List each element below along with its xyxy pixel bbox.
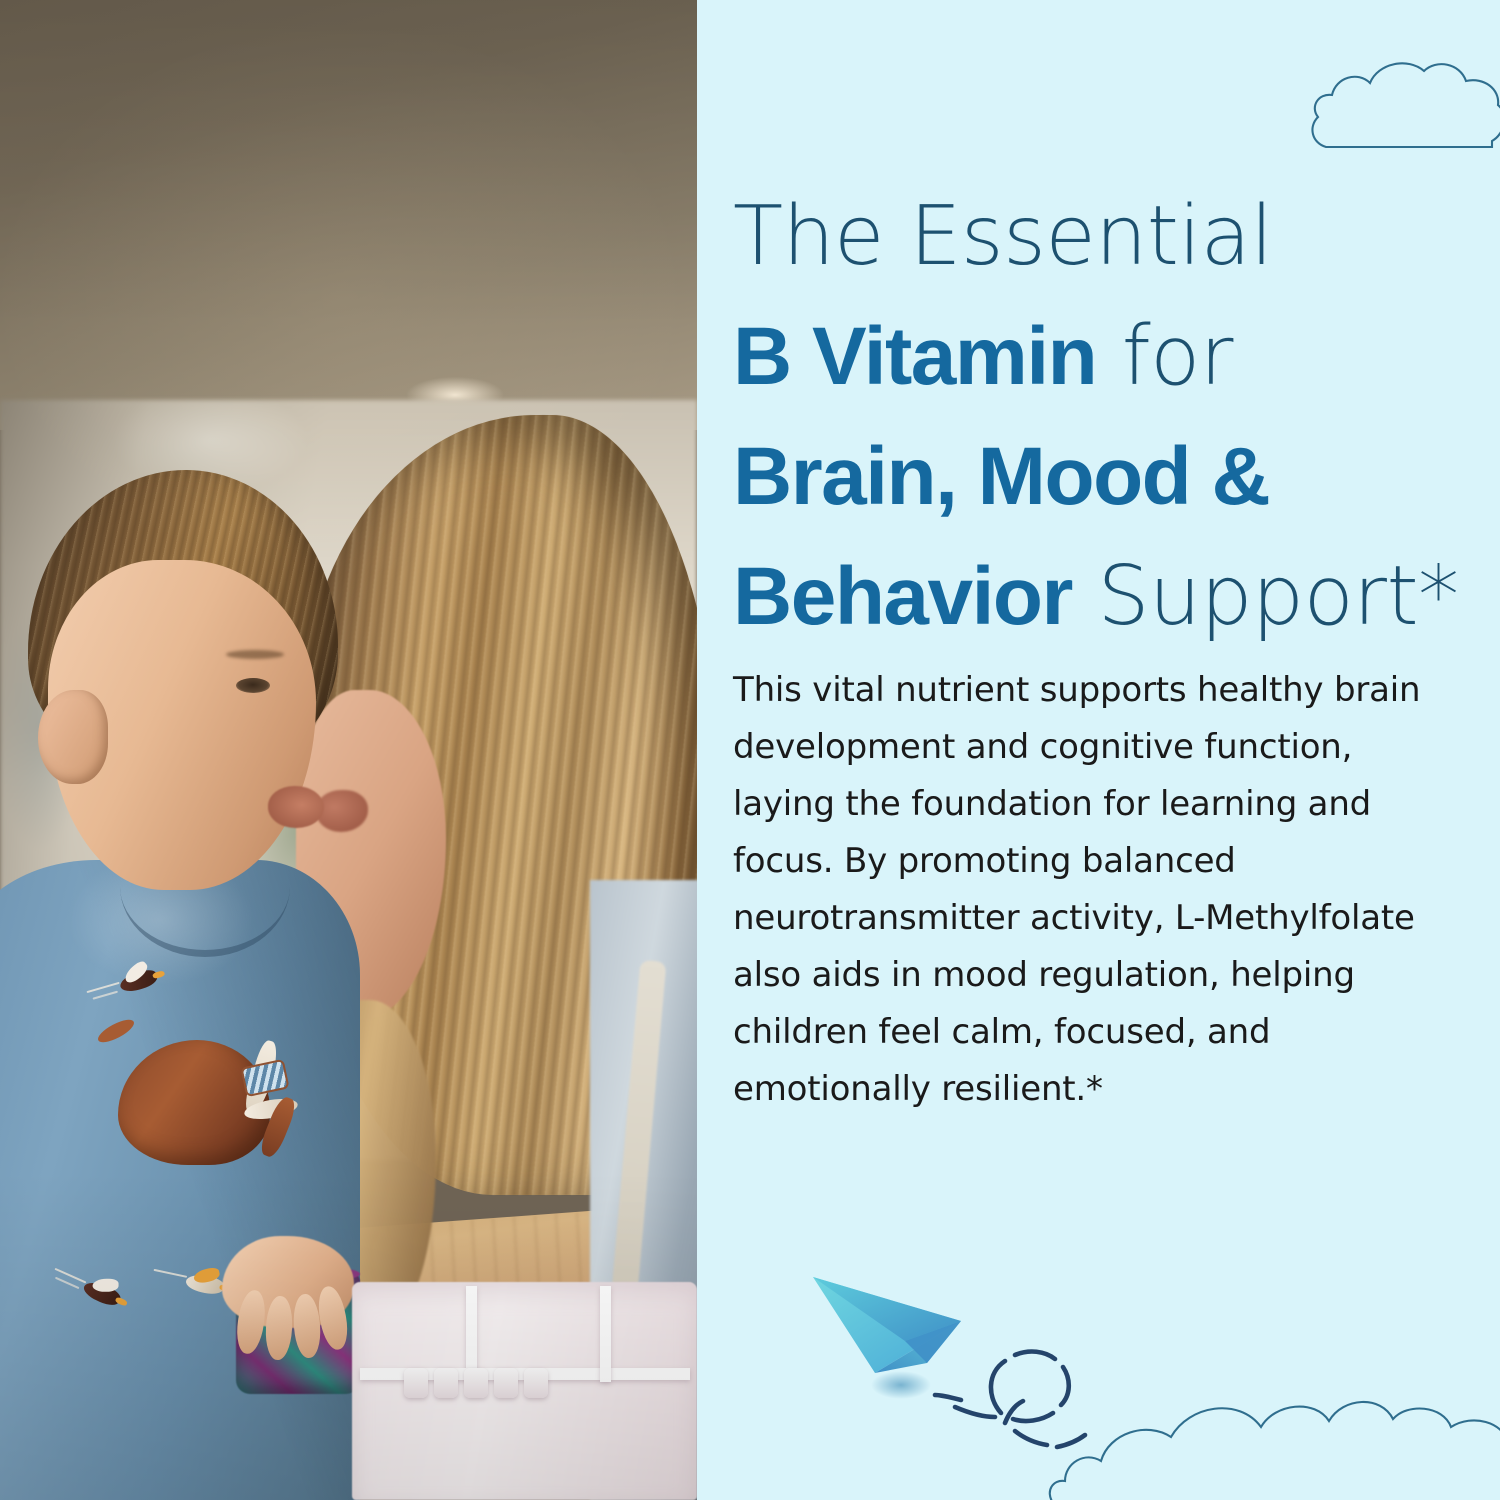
headline-text-light: The Essential: [733, 189, 1273, 284]
headline-line-2: B Vitamin for: [733, 308, 1493, 428]
photo-ceiling: [0, 0, 697, 430]
tray-knob: [434, 1368, 458, 1398]
boy-lips: [268, 786, 324, 828]
content-panel: The Essential B Vitamin for Brain, Mood …: [697, 0, 1500, 1500]
lifestyle-photo: [0, 0, 697, 1500]
headline-text-bold: Behavior: [733, 551, 1072, 642]
bird-wing: [93, 1279, 119, 1292]
boy-eyebrow: [226, 650, 284, 659]
tray-knob: [404, 1368, 428, 1398]
tray-knob: [524, 1368, 548, 1398]
tray-knob: [464, 1368, 488, 1398]
headline-line-4: Behavior Support*: [733, 548, 1493, 668]
dashed-loop-trail-icon: [935, 1352, 1085, 1447]
paper-plane-icon: [809, 1245, 1099, 1455]
page-title: The Essential B Vitamin for Brain, Mood …: [733, 188, 1493, 668]
tray-divider: [600, 1286, 611, 1382]
cloud-outline-icon: [1047, 1385, 1500, 1500]
headline-line-3: Brain, Mood &: [733, 428, 1493, 548]
headline-line-1: The Essential: [733, 188, 1493, 308]
headline-text-bold: B Vitamin: [733, 311, 1096, 402]
headline-text-bold: Brain, Mood &: [733, 431, 1269, 522]
body-paragraph: This vital nutrient supports healthy bra…: [733, 662, 1433, 1118]
promo-banner: The Essential B Vitamin for Brain, Mood …: [0, 0, 1500, 1500]
tray-knob: [494, 1368, 518, 1398]
boy-ear: [38, 690, 108, 784]
boy-eye: [236, 678, 270, 693]
body-copy: This vital nutrient supports healthy bra…: [733, 662, 1433, 1118]
boy-shirt: [0, 860, 360, 1500]
headline-text-light: for: [1096, 309, 1233, 404]
headline-text-light: Support*: [1072, 549, 1459, 644]
cloud-outline-icon: [1308, 55, 1500, 160]
